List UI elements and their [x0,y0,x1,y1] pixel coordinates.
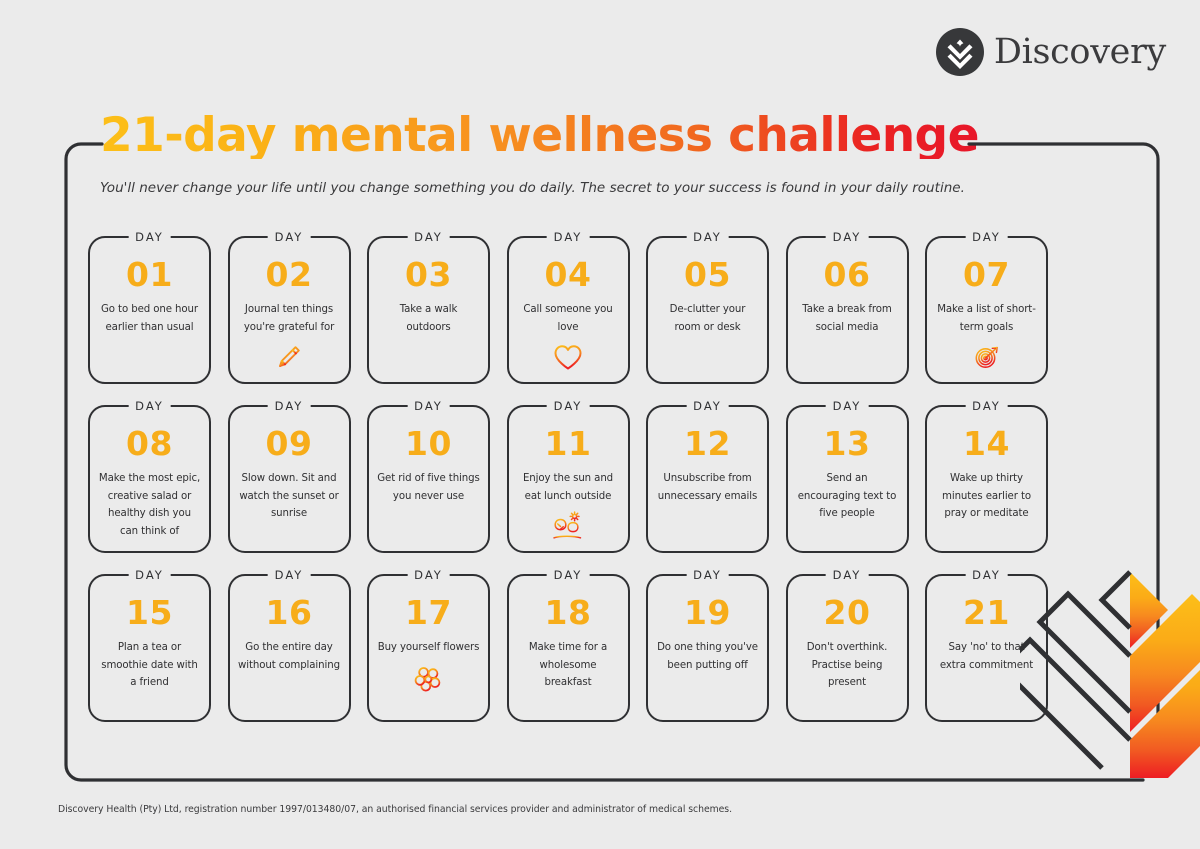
day-number: 01 [90,258,209,291]
day-number: 07 [927,258,1046,291]
day-card-01[interactable]: DAY 01 Go to bed one hour earlier than u… [88,236,211,384]
day-number: 10 [369,427,488,460]
day-label: DAY [268,229,311,246]
day-card-11[interactable]: DAY 11 Enjoy the sun and eat lunch outsi… [507,405,630,553]
day-label: DAY [128,398,171,415]
day-card-grid: DAY 01 Go to bed one hour earlier than u… [88,236,1060,722]
day-number: 18 [509,596,628,629]
day-label: DAY [547,398,590,415]
day-number: 04 [509,258,628,291]
day-label: DAY [128,229,171,246]
day-card-04[interactable]: DAY 04 Call someone you love [507,236,630,384]
day-description: Take a break from social media [796,301,899,336]
day-card-15[interactable]: DAY 15 Plan a tea or smoothie date with … [88,574,211,722]
day-card-10[interactable]: DAY 10 Get rid of five things you never … [367,405,490,553]
day-card-20[interactable]: DAY 20 Don't overthink. Practise being p… [786,574,909,722]
day-description: Call someone you love [517,301,620,336]
day-description: Don't overthink. Practise being present [796,639,899,692]
day-description: Enjoy the sun and eat lunch outside [517,470,620,505]
day-card-05[interactable]: DAY 05 De-clutter your room or desk [646,236,769,384]
day-card-18[interactable]: DAY 18 Make time for a wholesome breakfa… [507,574,630,722]
day-description: Wake up thirty minutes earlier to pray o… [935,470,1038,523]
target-icon [927,340,1046,374]
day-description: Slow down. Sit and watch the sunset or s… [238,470,341,523]
day-card-03[interactable]: DAY 03 Take a walk outdoors [367,236,490,384]
day-card-08[interactable]: DAY 08 Make the most epic, creative sala… [88,405,211,553]
day-description: Send an encouraging text to five people [796,470,899,523]
day-description: Make a list of short-term goals [935,301,1038,336]
discovery-logo: Discovery [936,28,1166,76]
day-card-12[interactable]: DAY 12 Unsubscribe from unnecessary emai… [646,405,769,553]
day-number: 03 [369,258,488,291]
day-card-07[interactable]: DAY 07 Make a list of short-term goals [925,236,1048,384]
day-number: 21 [927,596,1046,629]
tree-sun-icon [509,509,628,543]
day-label: DAY [686,398,729,415]
day-number: 05 [648,258,767,291]
day-label: DAY [268,398,311,415]
day-number: 12 [648,427,767,460]
day-description: Buy yourself flowers [377,639,480,657]
day-label: DAY [965,567,1008,584]
day-number: 14 [927,427,1046,460]
day-label: DAY [826,398,869,415]
day-number: 09 [230,427,349,460]
day-label: DAY [407,398,450,415]
day-description: Make time for a wholesome breakfast [517,639,620,692]
day-number: 16 [230,596,349,629]
day-number: 20 [788,596,907,629]
day-card-17[interactable]: DAY 17 Buy yourself flowers [367,574,490,722]
day-card-02[interactable]: DAY 02 Journal ten things you're gratefu… [228,236,351,384]
day-number: 11 [509,427,628,460]
day-label: DAY [686,229,729,246]
day-card-06[interactable]: DAY 06 Take a break from social media [786,236,909,384]
heart-icon [509,340,628,374]
day-label: DAY [268,567,311,584]
day-description: Take a walk outdoors [377,301,480,336]
day-label: DAY [965,229,1008,246]
day-card-19[interactable]: DAY 19 Do one thing you've been putting … [646,574,769,722]
day-number: 08 [90,427,209,460]
day-description: Get rid of five things you never use [377,470,480,505]
day-description: Go the entire day without complaining [238,639,341,674]
day-label: DAY [965,398,1008,415]
day-description: Journal ten things you're grateful for [238,301,341,336]
day-label: DAY [128,567,171,584]
day-number: 19 [648,596,767,629]
day-label: DAY [547,567,590,584]
day-description: Say 'no' to that extra commitment [935,639,1038,674]
day-description: Plan a tea or smoothie date with a frien… [98,639,201,692]
day-number: 02 [230,258,349,291]
day-description: Make the most epic, creative salad or he… [98,470,201,540]
day-number: 06 [788,258,907,291]
legal-footer: Discovery Health (Pty) Ltd, registration… [58,804,732,815]
day-label: DAY [826,229,869,246]
day-card-14[interactable]: DAY 14 Wake up thirty minutes earlier to… [925,405,1048,553]
day-description: Unsubscribe from unnecessary emails [656,470,759,505]
pen-icon [230,340,349,374]
day-description: Go to bed one hour earlier than usual [98,301,201,336]
day-label: DAY [407,567,450,584]
day-number: 13 [788,427,907,460]
day-number: 17 [369,596,488,629]
day-label: DAY [547,229,590,246]
day-label: DAY [407,229,450,246]
brand-wordmark: Discovery [994,32,1166,72]
day-card-16[interactable]: DAY 16 Go the entire day without complai… [228,574,351,722]
day-card-13[interactable]: DAY 13 Send an encouraging text to five … [786,405,909,553]
day-card-09[interactable]: DAY 09 Slow down. Sit and watch the suns… [228,405,351,553]
day-label: DAY [826,567,869,584]
flower-icon [369,661,488,695]
day-description: Do one thing you've been putting off [656,639,759,674]
day-card-21[interactable]: DAY 21 Say 'no' to that extra commitment [925,574,1048,722]
day-number: 15 [90,596,209,629]
discovery-chevron-heart-icon [936,28,984,76]
day-label: DAY [686,567,729,584]
day-description: De-clutter your room or desk [656,301,759,336]
